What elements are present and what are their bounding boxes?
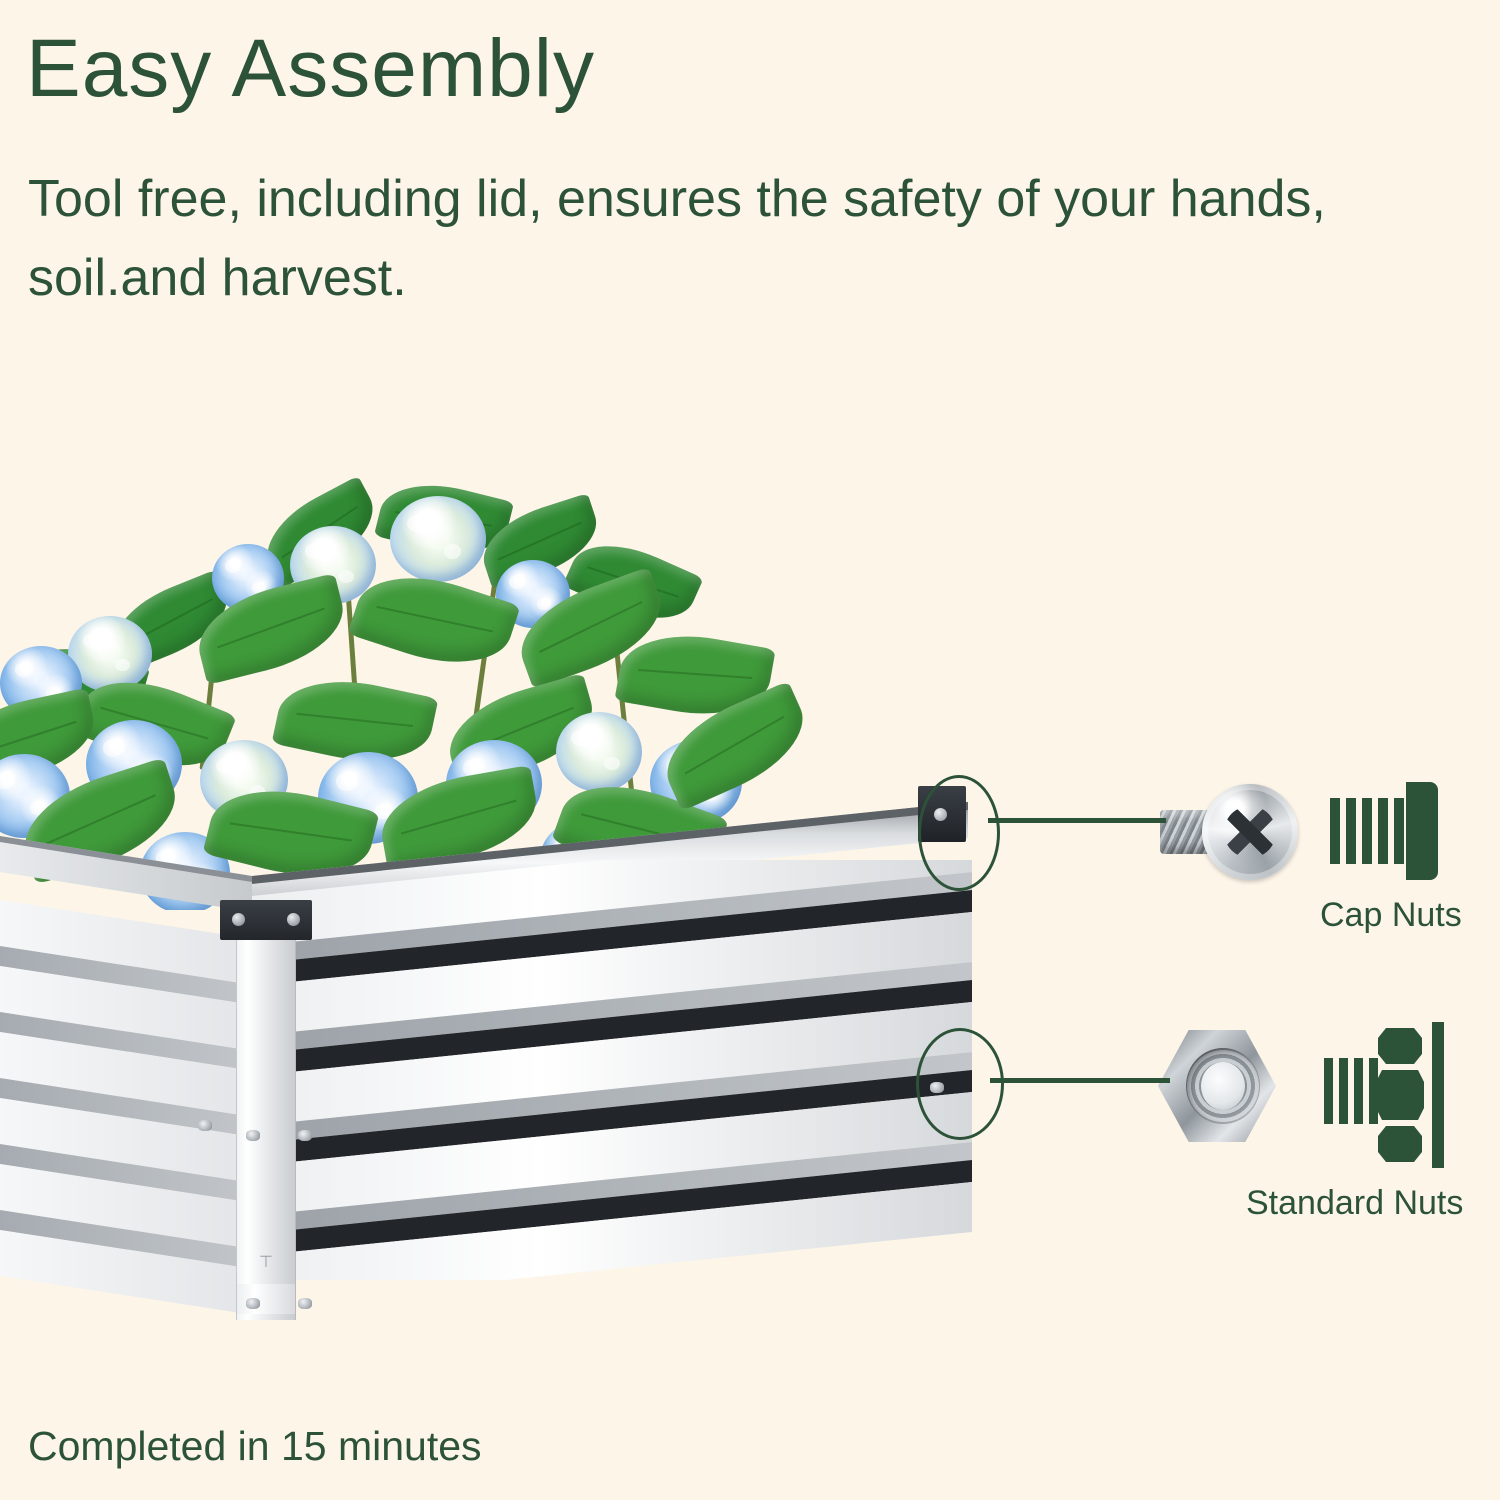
post-screw-foot-left [246, 1298, 260, 1309]
post-screw-foot-right [298, 1298, 312, 1309]
cap-nut-head [1202, 784, 1298, 880]
end-corrugated-panel [0, 900, 260, 1330]
callout-leader-standard-nuts [990, 1078, 1170, 1083]
hex-nut-diagram-icon [1324, 1022, 1448, 1168]
post-stamp-icon: ⊤ [255, 1254, 277, 1272]
hardware-cap-nuts: Cap Nuts [1160, 768, 1490, 948]
callout-leader-cap-nuts [988, 818, 1166, 823]
page-subtitle: Tool free, including lid, ensures the sa… [28, 160, 1358, 318]
product-illustration: ⊤ [0, 430, 1010, 1330]
corner-bracket-left [220, 900, 312, 940]
cap-nut-diagram-icon [1328, 776, 1440, 886]
post-foot [237, 1284, 295, 1314]
bracket-screw-b [287, 913, 300, 926]
callout-ring-standard-nuts [916, 1028, 1004, 1140]
cap-nut-photo [1160, 784, 1302, 882]
page-title: Easy Assembly [26, 28, 595, 110]
front-corrugated-panel [252, 860, 972, 1280]
post-screw-left [246, 1130, 260, 1141]
corner-post: ⊤ [236, 920, 296, 1320]
hex-nut-photo [1158, 1030, 1278, 1144]
bracket-screw-a [232, 913, 245, 926]
callout-ring-cap-nuts [918, 775, 1000, 891]
post-screw-right [298, 1130, 312, 1141]
callout-label-cap-nuts: Cap Nuts [1320, 896, 1462, 935]
callout-label-standard-nuts: Standard Nuts [1246, 1184, 1463, 1223]
end-panel-screw [198, 1120, 212, 1131]
assembly-time-note: Completed in 15 minutes [28, 1424, 482, 1469]
hardware-standard-nuts: Standard Nuts [1158, 1022, 1498, 1232]
product-feature-page: Easy Assembly Tool free, including lid, … [0, 0, 1500, 1500]
hex-nut-bore [1186, 1048, 1260, 1124]
